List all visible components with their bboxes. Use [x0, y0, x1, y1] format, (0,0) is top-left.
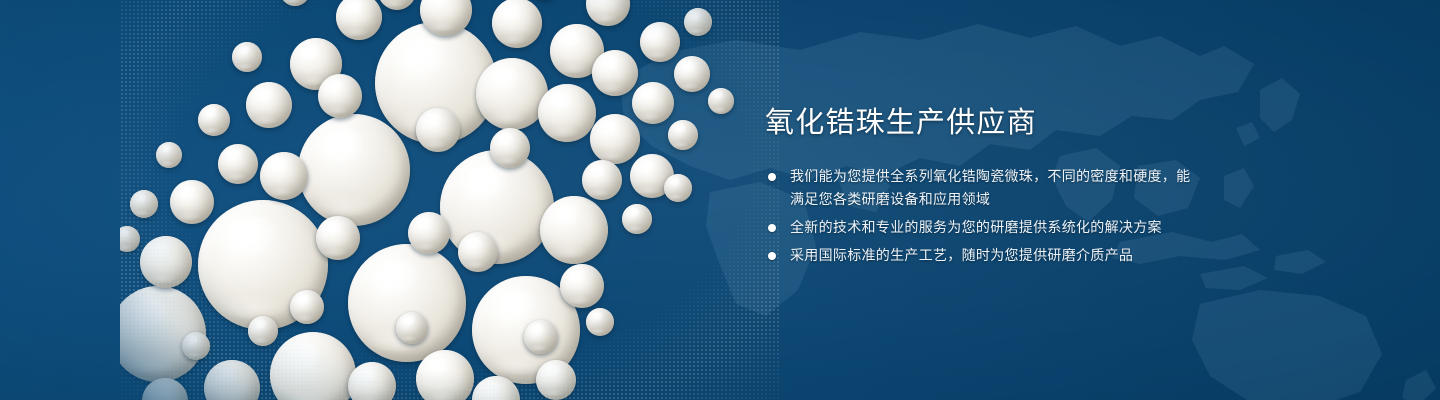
bullet-dot-icon — [768, 252, 776, 260]
banner-bullet-item: 采用国际标准的生产工艺，随时为您提供研磨介质产品 — [765, 244, 1195, 267]
banner-bullet-text: 我们能为您提供全系列氧化锆陶瓷微珠，不同的密度和硬度，能满足您各类研磨设备和应用… — [790, 165, 1195, 211]
banner-headline: 氧化锆珠生产供应商 — [765, 104, 1235, 142]
bullet-dot-icon — [768, 224, 776, 232]
banner-copy: 氧化锆珠生产供应商 我们能为您提供全系列氧化锆陶瓷微珠，不同的密度和硬度，能满足… — [765, 104, 1235, 272]
banner-bullet-list: 我们能为您提供全系列氧化锆陶瓷微珠，不同的密度和硬度，能满足您各类研磨设备和应用… — [765, 165, 1235, 267]
bullet-dot-icon — [768, 173, 776, 181]
hero-banner: 氧化锆珠生产供应商 我们能为您提供全系列氧化锆陶瓷微珠，不同的密度和硬度，能满足… — [0, 0, 1440, 400]
banner-bullet-item: 我们能为您提供全系列氧化锆陶瓷微珠，不同的密度和硬度，能满足您各类研磨设备和应用… — [765, 165, 1195, 211]
banner-bullet-text: 采用国际标准的生产工艺，随时为您提供研磨介质产品 — [790, 244, 1195, 267]
banner-bullet-item: 全新的技术和专业的服务为您的研磨提供系统化的解决方案 — [765, 216, 1195, 239]
banner-bullet-text: 全新的技术和专业的服务为您的研磨提供系统化的解决方案 — [790, 216, 1195, 239]
